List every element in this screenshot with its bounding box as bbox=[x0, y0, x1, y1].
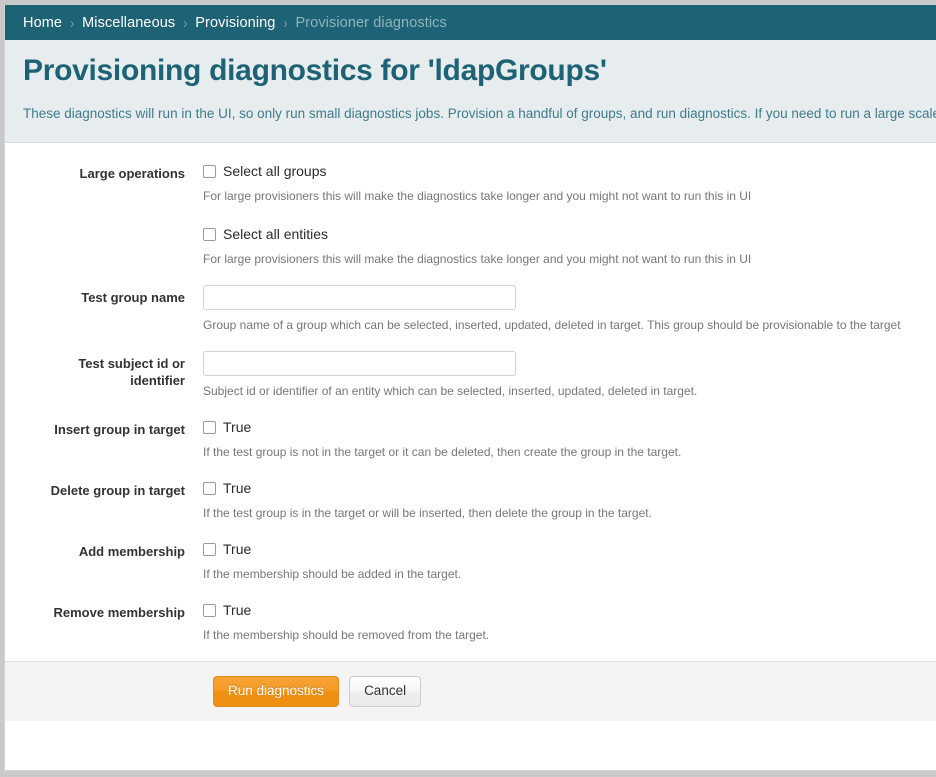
breadcrumb-item-provisioner-diagnostics: Provisioner diagnostics bbox=[295, 15, 446, 31]
checkbox-delete-group-in-target[interactable] bbox=[203, 482, 216, 495]
checkbox-add-membership[interactable] bbox=[203, 543, 216, 556]
form-row-insert-group-in-target: Insert group in targetTrueIf the test gr… bbox=[5, 417, 936, 460]
breadcrumb-item-home[interactable]: Home bbox=[23, 15, 62, 31]
field-help-text: If the membership should be added in the… bbox=[203, 566, 936, 582]
field-label-test-subject-id-or-identifier: Test subject id or identifier bbox=[23, 351, 193, 389]
field-control-remove-membership: TrueIf the membership should be removed … bbox=[193, 600, 936, 643]
breadcrumb-separator-icon: › bbox=[70, 14, 74, 32]
field-label-test-group-name: Test group name bbox=[23, 285, 193, 306]
field-control-large-operations: Select all groupsFor large provisioners … bbox=[193, 161, 936, 267]
form-row-remove-membership: Remove membershipTrueIf the membership s… bbox=[5, 600, 936, 643]
checkbox-label[interactable]: Select all groups bbox=[223, 163, 327, 179]
form-row-delete-group-in-target: Delete group in targetTrueIf the test gr… bbox=[5, 478, 936, 521]
field-control-test-subject-id-or-identifier: Subject id or identifier of an entity wh… bbox=[193, 351, 936, 399]
cancel-button[interactable]: Cancel bbox=[349, 676, 421, 707]
checkbox-remove-membership[interactable] bbox=[203, 604, 216, 617]
field-help-text: If the membership should be removed from… bbox=[203, 627, 936, 643]
breadcrumb-item-provisioning[interactable]: Provisioning bbox=[195, 15, 275, 31]
checkbox-group-item: TrueIf the membership should be removed … bbox=[203, 600, 936, 643]
field-help-text: For large provisioners this will make th… bbox=[203, 188, 936, 204]
form-row-add-membership: Add membershipTrueIf the membership shou… bbox=[5, 539, 936, 582]
checkbox-large-operations-0[interactable] bbox=[203, 165, 216, 178]
form-row-test-subject-id-or-identifier: Test subject id or identifierSubject id … bbox=[5, 351, 936, 399]
field-label-large-operations: Large operations bbox=[23, 161, 193, 182]
checkbox-line: True bbox=[203, 478, 936, 498]
run-diagnostics-button[interactable]: Run diagnostics bbox=[213, 676, 339, 707]
page-description: These diagnostics will run in the UI, so… bbox=[23, 104, 936, 124]
breadcrumb-separator-icon: › bbox=[283, 14, 287, 32]
page-shell: Home›Miscellaneous›Provisioning›Provisio… bbox=[4, 5, 936, 771]
diagnostics-form: Large operationsSelect all groupsFor lar… bbox=[5, 143, 936, 661]
field-label-remove-membership: Remove membership bbox=[23, 600, 193, 621]
breadcrumb: Home›Miscellaneous›Provisioning›Provisio… bbox=[5, 5, 936, 40]
form-footer: Run diagnostics Cancel bbox=[5, 661, 936, 721]
checkbox-group-item: Select all groupsFor large provisioners … bbox=[203, 161, 936, 204]
page-title: Provisioning diagnostics for 'ldapGroups… bbox=[23, 54, 936, 88]
breadcrumb-item-miscellaneous[interactable]: Miscellaneous bbox=[82, 15, 175, 31]
input-test-subject-id-or-identifier[interactable] bbox=[203, 351, 516, 376]
checkbox-group-item: TrueIf the test group is not in the targ… bbox=[203, 417, 936, 460]
field-control-delete-group-in-target: TrueIf the test group is in the target o… bbox=[193, 478, 936, 521]
checkbox-line: True bbox=[203, 600, 936, 620]
breadcrumb-separator-icon: › bbox=[183, 14, 187, 32]
checkbox-label[interactable]: Select all entities bbox=[223, 226, 328, 242]
field-control-test-group-name: Group name of a group which can be selec… bbox=[193, 285, 936, 333]
checkbox-line: Select all groups bbox=[203, 161, 936, 181]
field-help-text: If the test group is in the target or wi… bbox=[203, 505, 936, 521]
checkbox-label[interactable]: True bbox=[223, 541, 251, 557]
field-label-add-membership: Add membership bbox=[23, 539, 193, 560]
field-help-text: Subject id or identifier of an entity wh… bbox=[203, 383, 936, 399]
checkbox-line: True bbox=[203, 417, 936, 437]
checkbox-label[interactable]: True bbox=[223, 419, 251, 435]
field-label-insert-group-in-target: Insert group in target bbox=[23, 417, 193, 438]
field-help-text: Group name of a group which can be selec… bbox=[203, 317, 936, 333]
checkbox-line: Select all entities bbox=[203, 224, 936, 244]
checkbox-insert-group-in-target[interactable] bbox=[203, 421, 216, 434]
checkbox-group-item: TrueIf the test group is in the target o… bbox=[203, 478, 936, 521]
form-row-test-group-name: Test group nameGroup name of a group whi… bbox=[5, 285, 936, 333]
form-row-large-operations: Large operationsSelect all groupsFor lar… bbox=[5, 161, 936, 267]
checkbox-group-item: Select all entitiesFor large provisioner… bbox=[203, 224, 936, 267]
field-help-text: For large provisioners this will make th… bbox=[203, 251, 936, 267]
checkbox-label[interactable]: True bbox=[223, 480, 251, 496]
checkbox-line: True bbox=[203, 539, 936, 559]
field-help-text: If the test group is not in the target o… bbox=[203, 444, 936, 460]
field-label-delete-group-in-target: Delete group in target bbox=[23, 478, 193, 499]
field-control-insert-group-in-target: TrueIf the test group is not in the targ… bbox=[193, 417, 936, 460]
checkbox-large-operations-1[interactable] bbox=[203, 228, 216, 241]
page-header-band: Provisioning diagnostics for 'ldapGroups… bbox=[5, 40, 936, 143]
field-control-add-membership: TrueIf the membership should be added in… bbox=[193, 539, 936, 582]
input-test-group-name[interactable] bbox=[203, 285, 516, 310]
checkbox-label[interactable]: True bbox=[223, 602, 251, 618]
checkbox-group-item: TrueIf the membership should be added in… bbox=[203, 539, 936, 582]
